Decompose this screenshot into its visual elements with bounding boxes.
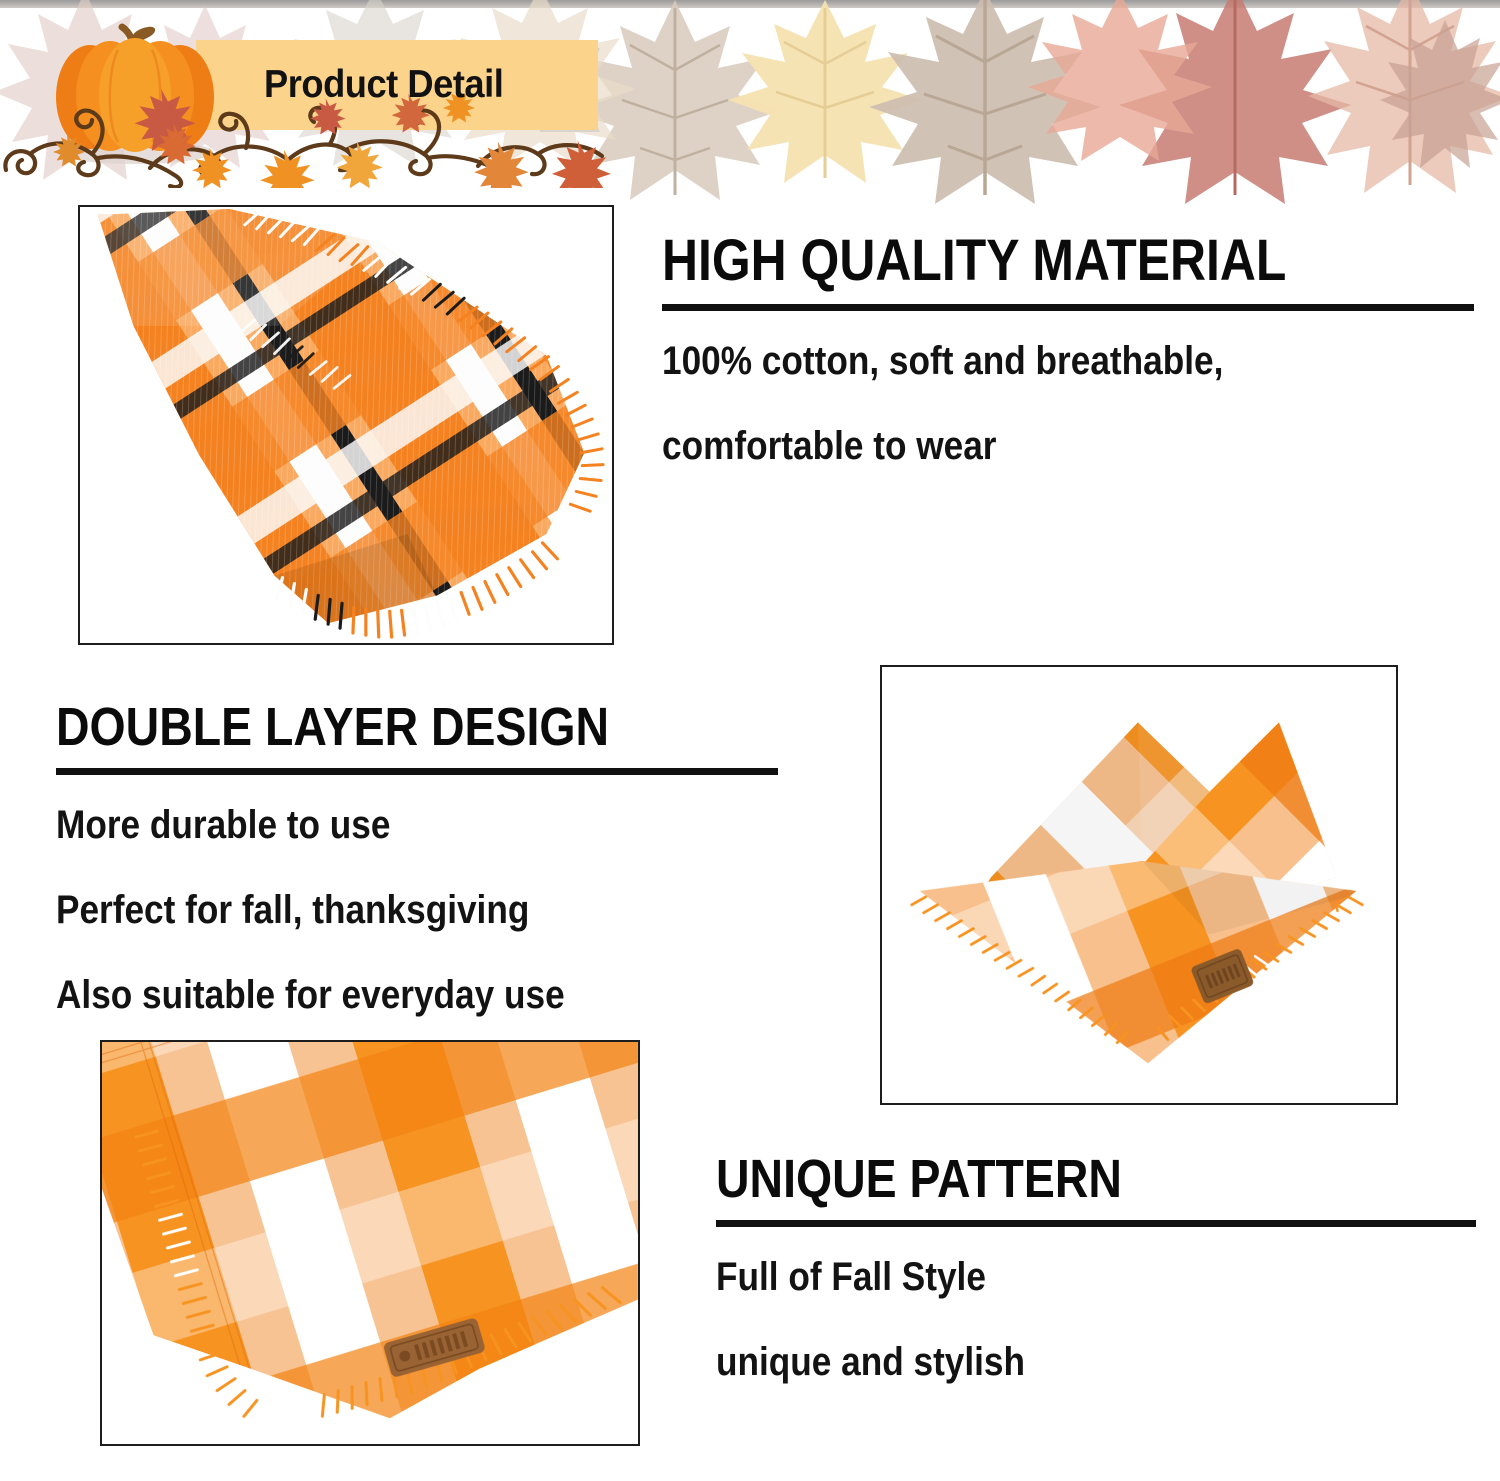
heading-divider (56, 768, 778, 775)
feature-block-unique-pattern: UNIQUE PATTERN Full of Fall Style unique… (716, 1152, 1476, 1425)
feature-line: Full of Fall Style (716, 1255, 1385, 1300)
feature-line: Perfect for fall, thanksgiving (56, 888, 691, 933)
feature-line: 100% cotton, soft and breathable, (662, 339, 1377, 384)
maple-leaf-icon (1020, 0, 1220, 162)
feature-heading: DOUBLE LAYER DESIGN (56, 700, 677, 754)
flat-corner-image (102, 1042, 638, 1444)
feature-line: Also suitable for everyday use (56, 973, 691, 1018)
maple-leaf-icon (1380, 20, 1500, 170)
feature-heading: UNIQUE PATTERN (716, 1152, 1370, 1206)
feature-line: comfortable to wear (662, 424, 1377, 469)
feature-block-material: HIGH QUALITY MATERIAL 100% cotton, soft … (662, 232, 1474, 509)
page-title: Product Detail (264, 48, 580, 122)
product-photo-flat-corner[interactable] (100, 1040, 640, 1446)
feature-lines: More durable to use Perfect for fall, th… (56, 803, 778, 1018)
header-banner: Product Detail (0, 0, 1500, 205)
feature-block-double-layer: DOUBLE LAYER DESIGN More durable to use … (56, 700, 778, 1058)
feature-line: More durable to use (56, 803, 691, 848)
fabric-closeup-image (80, 207, 612, 643)
folded-bandana-image (882, 667, 1396, 1103)
feature-lines: Full of Fall Style unique and stylish (716, 1255, 1476, 1385)
product-photo-folded-bandana[interactable] (880, 665, 1398, 1105)
heading-divider (662, 304, 1474, 311)
feature-lines: 100% cotton, soft and breathable, comfor… (662, 339, 1474, 469)
feature-line: unique and stylish (716, 1340, 1385, 1385)
feature-heading: HIGH QUALITY MATERIAL (662, 232, 1360, 290)
product-photo-fabric-closeup[interactable] (78, 205, 614, 645)
heading-divider (716, 1220, 1476, 1227)
